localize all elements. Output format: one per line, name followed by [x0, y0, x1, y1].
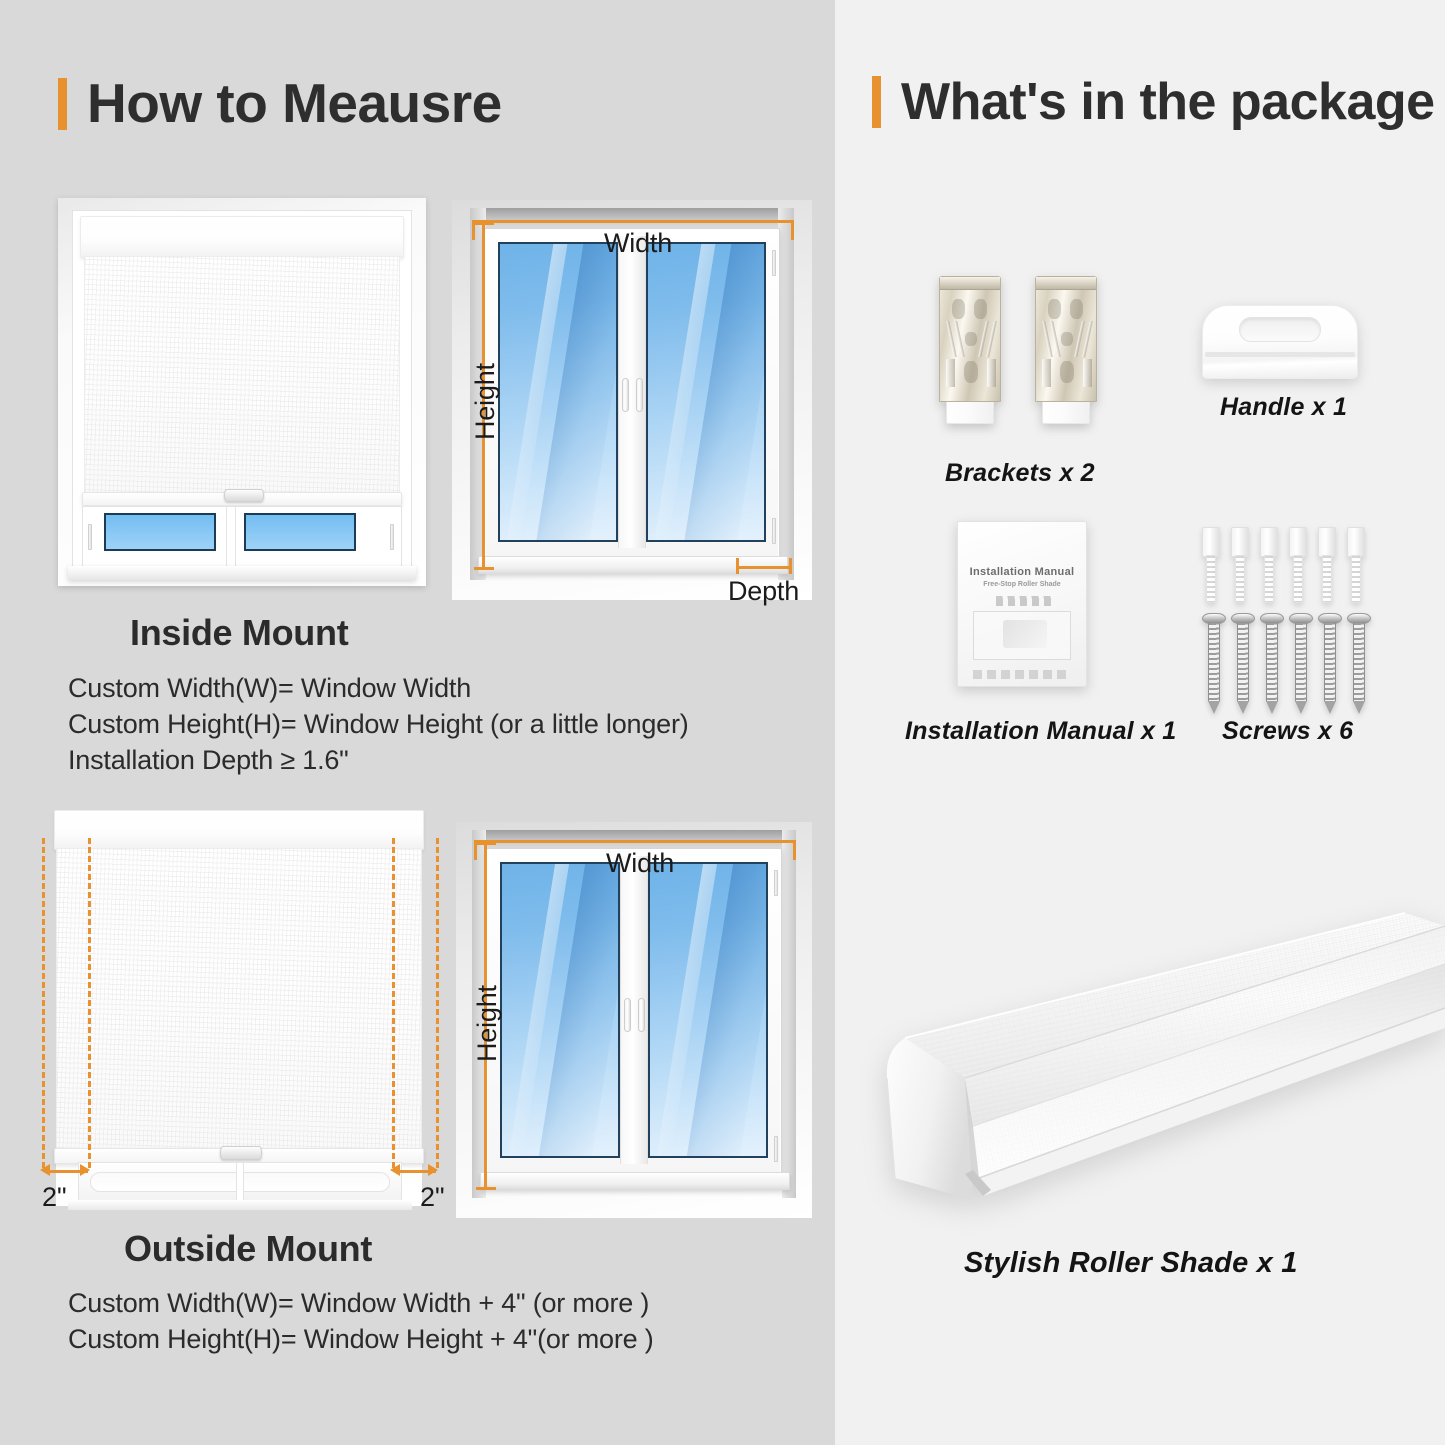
- wall-anchor-icon: [1231, 527, 1249, 605]
- outside-mount-title: Outside Mount: [124, 1228, 372, 1270]
- how-to-measure-panel: How to Meausre: [0, 0, 835, 1445]
- wall-anchor-icon: [1260, 527, 1278, 605]
- handle-icon: [1202, 305, 1358, 379]
- roller-shade-label: Stylish Roller Shade x 1: [964, 1247, 1298, 1280]
- how-to-measure-heading: How to Meausre: [58, 76, 502, 131]
- package-heading: What's in the package: [872, 76, 1435, 128]
- wall-anchor-icon: [1202, 527, 1220, 605]
- how-to-measure-title: How to Meausre: [87, 76, 502, 131]
- brackets-item: [933, 276, 1123, 456]
- shade-fabric: [84, 256, 400, 496]
- screw-icon: [1352, 613, 1366, 714]
- outside-mount-line-2: Custom Height(H)= Window Height + 4"(or …: [68, 1321, 654, 1357]
- inside-mount-window-diagram: Width Height Depth: [452, 200, 812, 600]
- accent-bar-icon: [872, 76, 881, 128]
- inside-mount-title: Inside Mount: [130, 612, 348, 654]
- width-label: Width: [604, 228, 672, 259]
- overhang-guide-right-outer: [436, 838, 439, 1168]
- overhang-left-label: 2": [42, 1182, 67, 1213]
- screws-item: [1202, 527, 1374, 692]
- inside-mount-text: Custom Width(W)= Window Width Custom Hei…: [68, 670, 689, 778]
- manual-cover-subtitle: Free-Stop Roller Shade: [967, 581, 1076, 588]
- accent-bar-icon: [58, 78, 67, 130]
- brackets-label: Brackets x 2: [945, 459, 1095, 488]
- screws-label: Screws x 6: [1222, 717, 1353, 746]
- outside-mount-shade-illustration: 2" 2": [28, 810, 444, 1210]
- screw-icon: [1294, 613, 1308, 714]
- screw-icon: [1207, 613, 1221, 714]
- wall-anchor-icon: [1318, 527, 1336, 605]
- overhang-guide-left-outer: [42, 838, 45, 1168]
- infographic-root: How to Meausre: [0, 0, 1445, 1445]
- bracket-icon: [1033, 276, 1099, 426]
- screw-icon: [1265, 613, 1279, 714]
- wall-anchor-icon: [1347, 527, 1365, 605]
- overhang-guide-left-inner: [88, 838, 91, 1168]
- package-contents-panel: What's in the package: [835, 0, 1445, 1445]
- inside-mount-shade-illustration: [58, 198, 426, 586]
- wall-anchor-icon: [1289, 527, 1307, 605]
- height-label: Height: [470, 363, 501, 440]
- depth-label: Depth: [728, 576, 799, 607]
- overhang-right-label: 2": [420, 1182, 445, 1213]
- bracket-icon: [937, 276, 1003, 426]
- outside-mount-line-1: Custom Width(W)= Window Width + 4" (or m…: [68, 1285, 654, 1321]
- installation-manual-icon: Installation Manual Free-Stop Roller Sha…: [957, 521, 1087, 687]
- roller-shade-product-image: [845, 878, 1445, 1208]
- inside-mount-line-1: Custom Width(W)= Window Width: [68, 670, 689, 706]
- shade-fabric: [56, 848, 422, 1154]
- inside-mount-line-2: Custom Height(H)= Window Height (or a li…: [68, 706, 689, 742]
- installation-manual-label: Installation Manual x 1: [905, 717, 1176, 746]
- screw-icon: [1236, 613, 1250, 714]
- width-label: Width: [606, 848, 674, 879]
- outside-mount-window-diagram: Width Height: [456, 822, 812, 1218]
- package-title: What's in the package: [901, 76, 1435, 128]
- height-label: Height: [472, 985, 503, 1062]
- screw-icon: [1323, 613, 1337, 714]
- inside-mount-line-3: Installation Depth ≥ 1.6": [68, 742, 689, 778]
- overhang-guide-right-inner: [392, 838, 395, 1168]
- handle-label: Handle x 1: [1220, 393, 1347, 422]
- outside-mount-text: Custom Width(W)= Window Width + 4" (or m…: [68, 1285, 654, 1357]
- manual-cover-title: Installation Manual: [967, 566, 1076, 578]
